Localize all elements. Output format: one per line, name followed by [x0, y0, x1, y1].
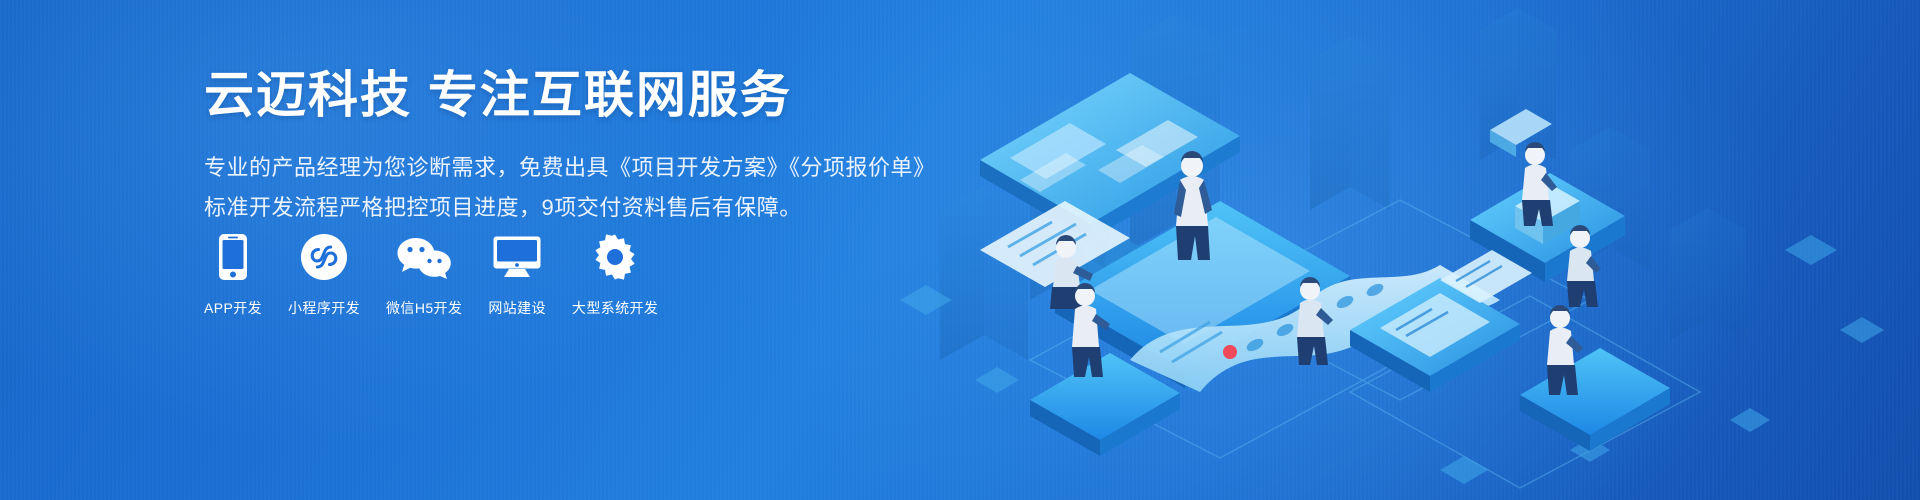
isometric-data-platform-illustration: [880, 0, 1920, 500]
page-title: 云迈科技 专注互联网服务: [204, 66, 924, 124]
service-label-wechat: 微信H5开发: [386, 298, 462, 318]
service-label-system: 大型系统开发: [572, 298, 658, 318]
lower-right-platform: [1520, 348, 1670, 451]
hero-copy: 云迈科技 专注互联网服务 专业的产品经理为您诊断需求，免费出具《项目开发方案》《…: [204, 66, 924, 225]
service-label-website: 网站建设: [488, 298, 546, 318]
hero-subtitle-line-2: 标准开发流程严格把控项目进度，9项交付资料售后有保障。: [204, 190, 924, 226]
hero-subtitle-line-1: 专业的产品经理为您诊断需求，免费出具《项目开发方案》《分项报价单》: [204, 150, 924, 186]
mobile-phone-icon: [218, 232, 248, 282]
service-item-app[interactable]: APP开发: [204, 232, 262, 318]
service-label-app: APP开发: [204, 298, 262, 318]
mini-program-icon: [301, 232, 347, 282]
wechat-icon: [396, 232, 452, 282]
service-item-wechat[interactable]: 微信H5开发: [386, 232, 462, 318]
service-item-miniprogram[interactable]: 小程序开发: [288, 232, 360, 318]
service-label-miniprogram: 小程序开发: [288, 298, 360, 318]
service-list: APP开发 小程序开发: [204, 232, 658, 318]
hero-banner: 云迈科技 专注互联网服务 专业的产品经理为您诊断需求，免费出具《项目开发方案》《…: [0, 0, 1920, 500]
monitor-icon: [492, 232, 542, 282]
service-item-system[interactable]: 大型系统开发: [572, 232, 658, 318]
gear-icon: [591, 232, 639, 282]
service-item-website[interactable]: 网站建设: [488, 232, 546, 318]
